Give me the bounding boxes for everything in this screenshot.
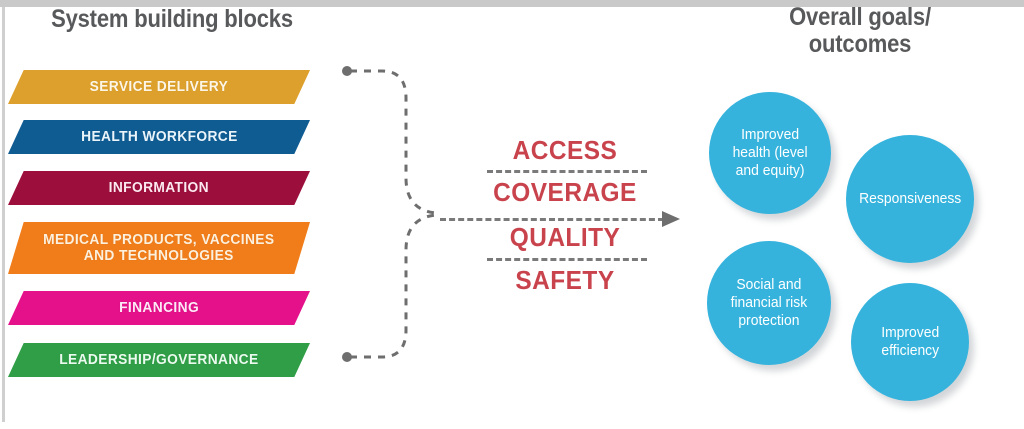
building-block-health-workforce[interactable]: HEALTH WORKFORCE: [8, 120, 310, 154]
page-title-overall-goals: Overall goals/ outcomes: [719, 4, 1001, 58]
main-flow-dashed-line: [440, 218, 664, 221]
outcome-label-line-3: protection: [738, 313, 799, 329]
middle-word-quality: QUALITY: [448, 222, 683, 253]
outcome-label-line-1: Improved: [881, 325, 939, 341]
building-block-service-delivery[interactable]: SERVICE DELIVERY: [8, 70, 310, 104]
outcome-label-line-1: Improved: [741, 127, 799, 143]
building-block-financing[interactable]: FINANCING: [8, 291, 310, 325]
outcome-label: Improved health (level and equity): [725, 126, 815, 180]
building-block-label-line-1: MEDICAL PRODUCTS, VACCINES: [43, 232, 274, 248]
middle-word-safety: SAFETY: [448, 265, 683, 296]
middle-divider-1: [487, 170, 647, 173]
building-block-label: HEALTH WORKFORCE: [69, 129, 248, 145]
middle-word-coverage: COVERAGE: [448, 177, 683, 208]
page-title-system-building-blocks: System building blocks: [40, 6, 304, 33]
overall-goals-title-line-1: Overall goals/: [719, 4, 1001, 31]
health-system-framework-diagram: System building blocks Overall goals/ ou…: [0, 0, 1024, 429]
outcome-label-line-1: Social and: [736, 277, 801, 293]
building-block-medical-products-vaccines-technologies[interactable]: MEDICAL PRODUCTS, VACCINES AND TECHNOLOG…: [8, 222, 310, 274]
building-block-leadership-governance[interactable]: LEADERSHIP/GOVERNANCE: [8, 343, 310, 377]
building-block-label: MEDICAL PRODUCTS, VACCINES AND TECHNOLOG…: [32, 232, 286, 264]
building-block-label: FINANCING: [108, 300, 211, 316]
building-block-label: INFORMATION: [97, 180, 220, 196]
outcome-label: Social and financial risk protection: [723, 276, 815, 330]
outcome-label: Responsiveness: [851, 190, 969, 208]
building-block-label-line-2: AND TECHNOLOGIES: [84, 248, 234, 264]
building-block-label: LEADERSHIP/GOVERNANCE: [48, 352, 270, 368]
outcome-circle-social-financial-risk-protection[interactable]: Social and financial risk protection: [707, 241, 831, 365]
connector-path-top: [350, 71, 436, 213]
outcome-label-line-3: and equity): [736, 163, 805, 179]
middle-divider-2: [487, 258, 647, 261]
building-block-information[interactable]: INFORMATION: [8, 171, 310, 205]
middle-word-access: ACCESS: [448, 135, 683, 166]
outcome-label-line-2: health (level: [732, 145, 807, 161]
building-block-label: SERVICE DELIVERY: [78, 79, 239, 95]
connector-path-bottom: [350, 215, 436, 357]
dashed-bracket-connector: [330, 50, 540, 380]
outcome-circle-responsiveness[interactable]: Responsiveness: [846, 135, 974, 263]
outcome-label: Improved efficiency: [873, 324, 946, 360]
outcome-label-line-2: financial risk: [731, 295, 808, 311]
outcome-circle-improved-efficiency[interactable]: Improved efficiency: [851, 283, 969, 401]
overall-goals-title-line-2: outcomes: [719, 31, 1001, 58]
outcome-circle-improved-health[interactable]: Improved health (level and equity): [709, 92, 831, 214]
outcome-label-line-2: efficiency: [881, 343, 939, 359]
left-gray-rule: [2, 7, 5, 422]
